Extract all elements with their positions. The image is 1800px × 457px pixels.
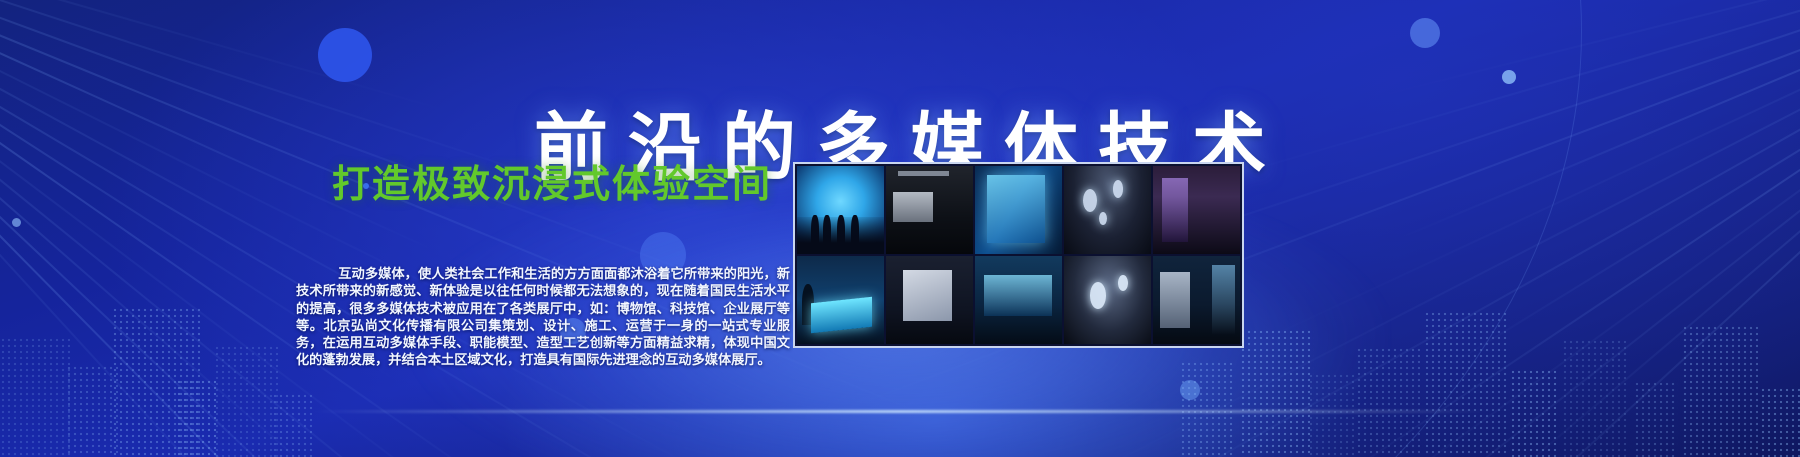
description-paragraph: 互动多媒体，使人类社会工作和生活的方方面面都沐浴着它所带来的阳光，新技术所带来的… <box>296 265 790 368</box>
photo-gallery <box>793 162 1244 348</box>
photo-3-image <box>975 166 1062 254</box>
subtitle: 打造极致沉浸式体验空间 <box>332 166 772 206</box>
photo-4-image <box>1064 166 1151 254</box>
promotional-banner: 前沿的多媒体技术 打造极致沉浸式体验空间 互动多媒体，使人类社会工作和生活的方方… <box>0 0 1800 457</box>
photo-9-image <box>1064 256 1151 344</box>
gallery-photo-9[interactable] <box>1064 256 1151 344</box>
gallery-photo-10[interactable] <box>1153 256 1240 344</box>
photo-10-image <box>1153 256 1240 344</box>
gallery-photo-4[interactable] <box>1064 166 1151 254</box>
gallery-photo-7[interactable] <box>886 256 973 344</box>
photo-6-image <box>797 256 884 344</box>
photo-8-image <box>975 256 1062 344</box>
banner-content: 前沿的多媒体技术 打造极致沉浸式体验空间 互动多媒体，使人类社会工作和生活的方方… <box>0 0 1800 457</box>
photo-1-image <box>797 166 884 254</box>
gallery-photo-1[interactable] <box>797 166 884 254</box>
gallery-photo-5[interactable] <box>1153 166 1240 254</box>
gallery-photo-6[interactable] <box>797 256 884 344</box>
photo-7-image <box>886 256 973 344</box>
gallery-photo-2[interactable] <box>886 166 973 254</box>
photo-2-image <box>886 166 973 254</box>
gallery-photo-3[interactable] <box>975 166 1062 254</box>
gallery-photo-8[interactable] <box>975 256 1062 344</box>
photo-5-image <box>1153 166 1240 254</box>
